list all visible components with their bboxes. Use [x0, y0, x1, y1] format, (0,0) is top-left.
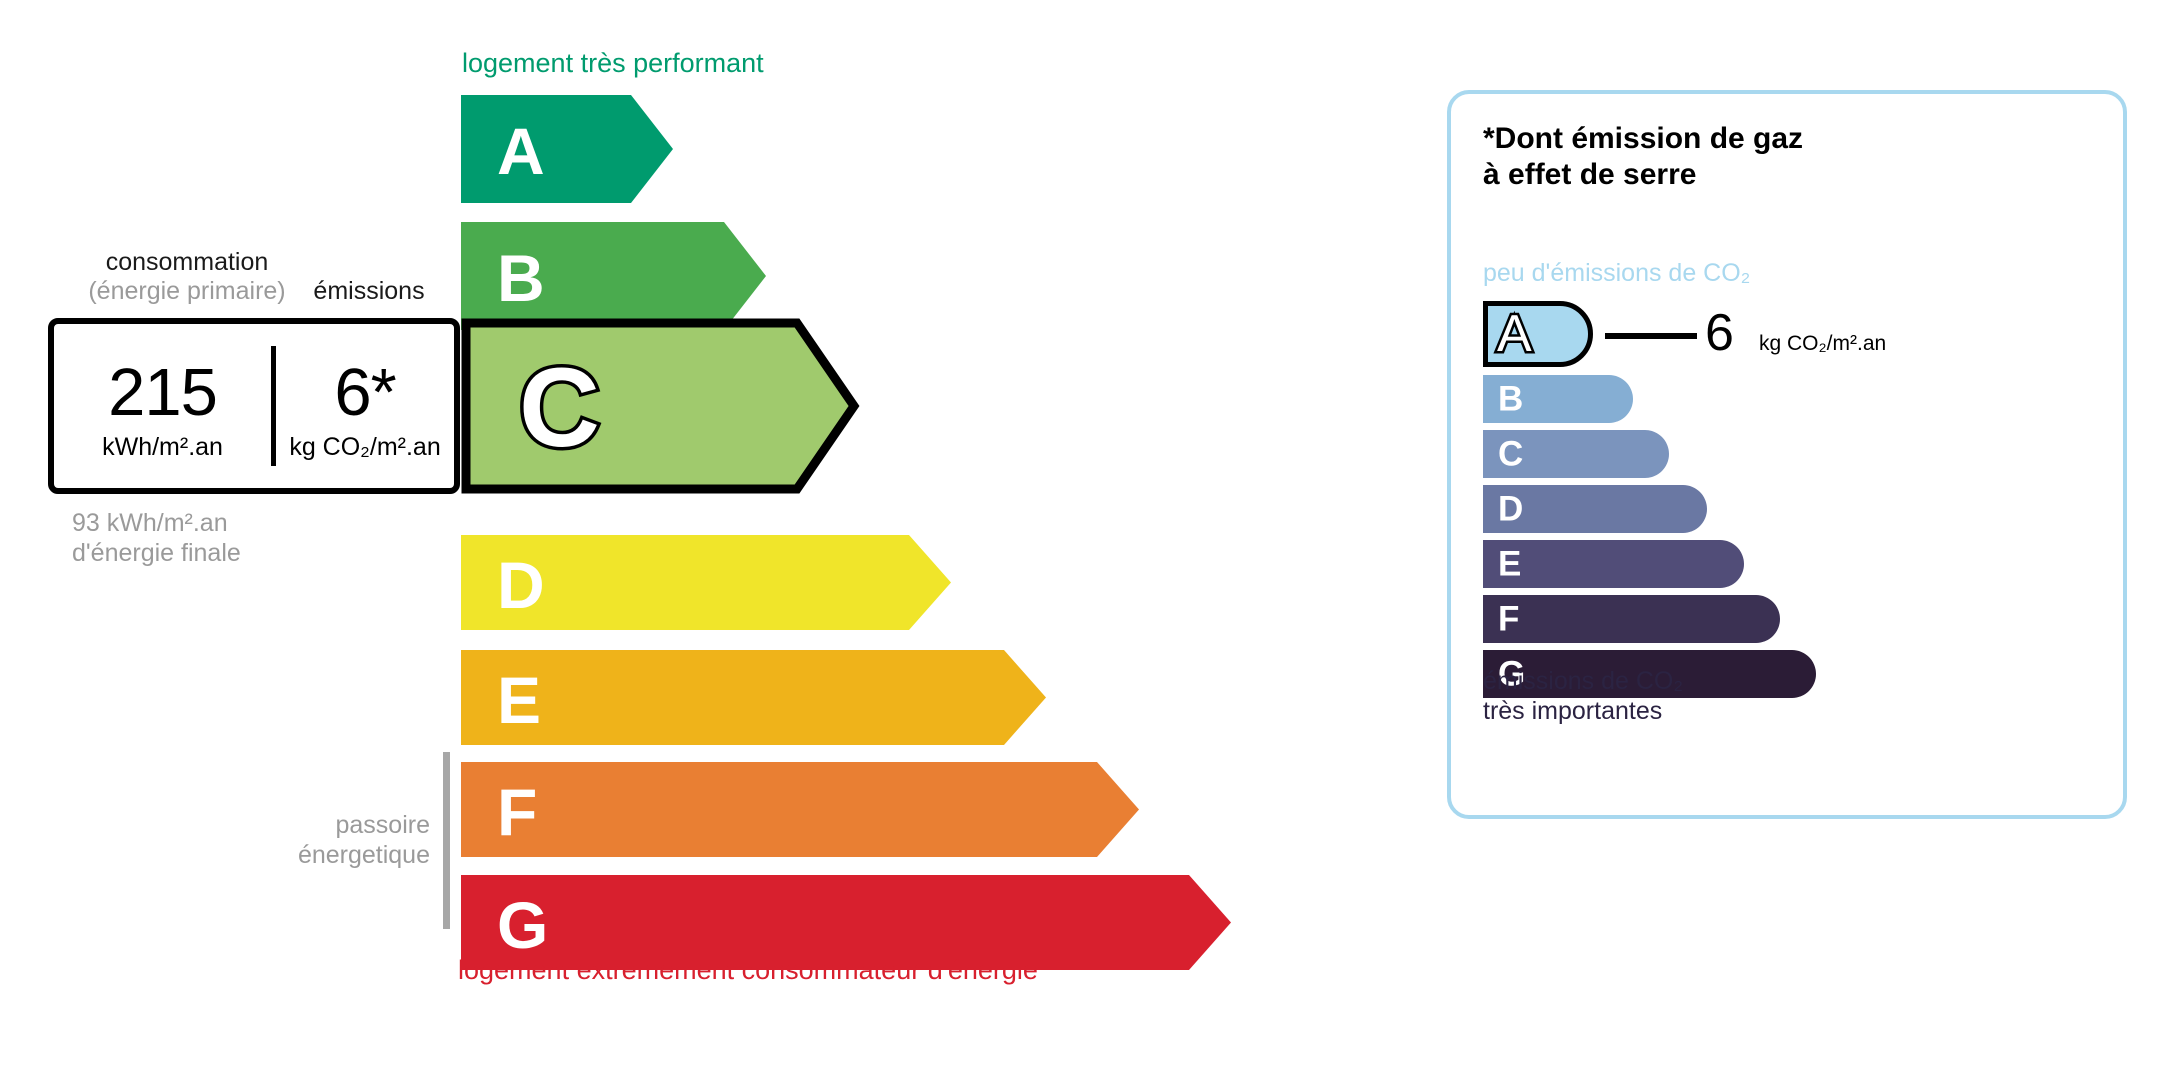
ges-letter-c: C [1498, 437, 1523, 472]
energy-band-letter-e: E [497, 667, 541, 733]
energy-band-letter-c: C [519, 352, 600, 464]
energy-band-letter-a: A [497, 118, 545, 184]
emission-cell: 6* kg CO₂/m².an [276, 324, 454, 488]
consumption-cell: 215 kWh/m².an [54, 324, 271, 488]
emission-value: 6* [334, 360, 395, 426]
ges-bar-f [1483, 595, 1780, 643]
energy-band-e: E [461, 650, 1050, 749]
ges-bar-e [1483, 540, 1744, 588]
emission-unit: kg CO₂/m².an [289, 433, 440, 462]
ges-caption-high: émissions de CO₂ très importantes [1483, 666, 1683, 726]
ges-title: *Dont émission de gaz à effet de serre [1483, 121, 1803, 193]
energy-band-shape-a [461, 95, 677, 207]
ges-caption-high-line-2: très importantes [1483, 696, 1683, 726]
ges-title-line-1: *Dont émission de gaz [1483, 121, 1803, 157]
energy-band-a: A [461, 95, 677, 207]
energy-band-d: D [461, 535, 955, 634]
energy-band-c: C [461, 318, 863, 498]
energy-band-letter-d: D [497, 552, 545, 618]
ges-letter-e: E [1498, 547, 1521, 582]
ges-value: 6 [1705, 305, 1734, 362]
energy-band-letter-g: G [497, 892, 548, 958]
ges-title-line-2: à effet de serre [1483, 157, 1803, 193]
consumption-value: 215 [108, 360, 217, 426]
ges-caption-high-line-1: émissions de CO₂ [1483, 666, 1683, 696]
energy-band-shape-f [461, 762, 1143, 861]
energy-band-letter-f: F [497, 779, 537, 845]
ges-letter-d: D [1498, 492, 1523, 527]
energy-performance-diagram: logement très performant consommation (é… [0, 0, 1400, 1079]
energy-band-letter-b: B [497, 245, 545, 311]
energy-band-list: ABCDEFG [0, 0, 1400, 1079]
caption-very-consuming: logement extrêmement consommateur d'éner… [458, 955, 1038, 986]
ges-value-unit: kg CO₂/m².an [1759, 332, 1886, 356]
ges-letter-f: F [1498, 602, 1519, 637]
ges-leader-line [1605, 333, 1697, 339]
ges-badge-letter-a: A [1497, 308, 1532, 360]
greenhouse-gas-card: *Dont émission de gaz à effet de serre p… [1447, 90, 2127, 819]
value-box: 215 kWh/m².an 6* kg CO₂/m².an [48, 318, 460, 494]
energy-band-shape-e [461, 650, 1050, 749]
ges-caption-low: peu d'émissions de CO₂ [1483, 259, 1750, 288]
consumption-unit: kWh/m².an [102, 433, 223, 462]
ges-letter-b: B [1498, 382, 1523, 417]
energy-band-f: F [461, 762, 1143, 861]
